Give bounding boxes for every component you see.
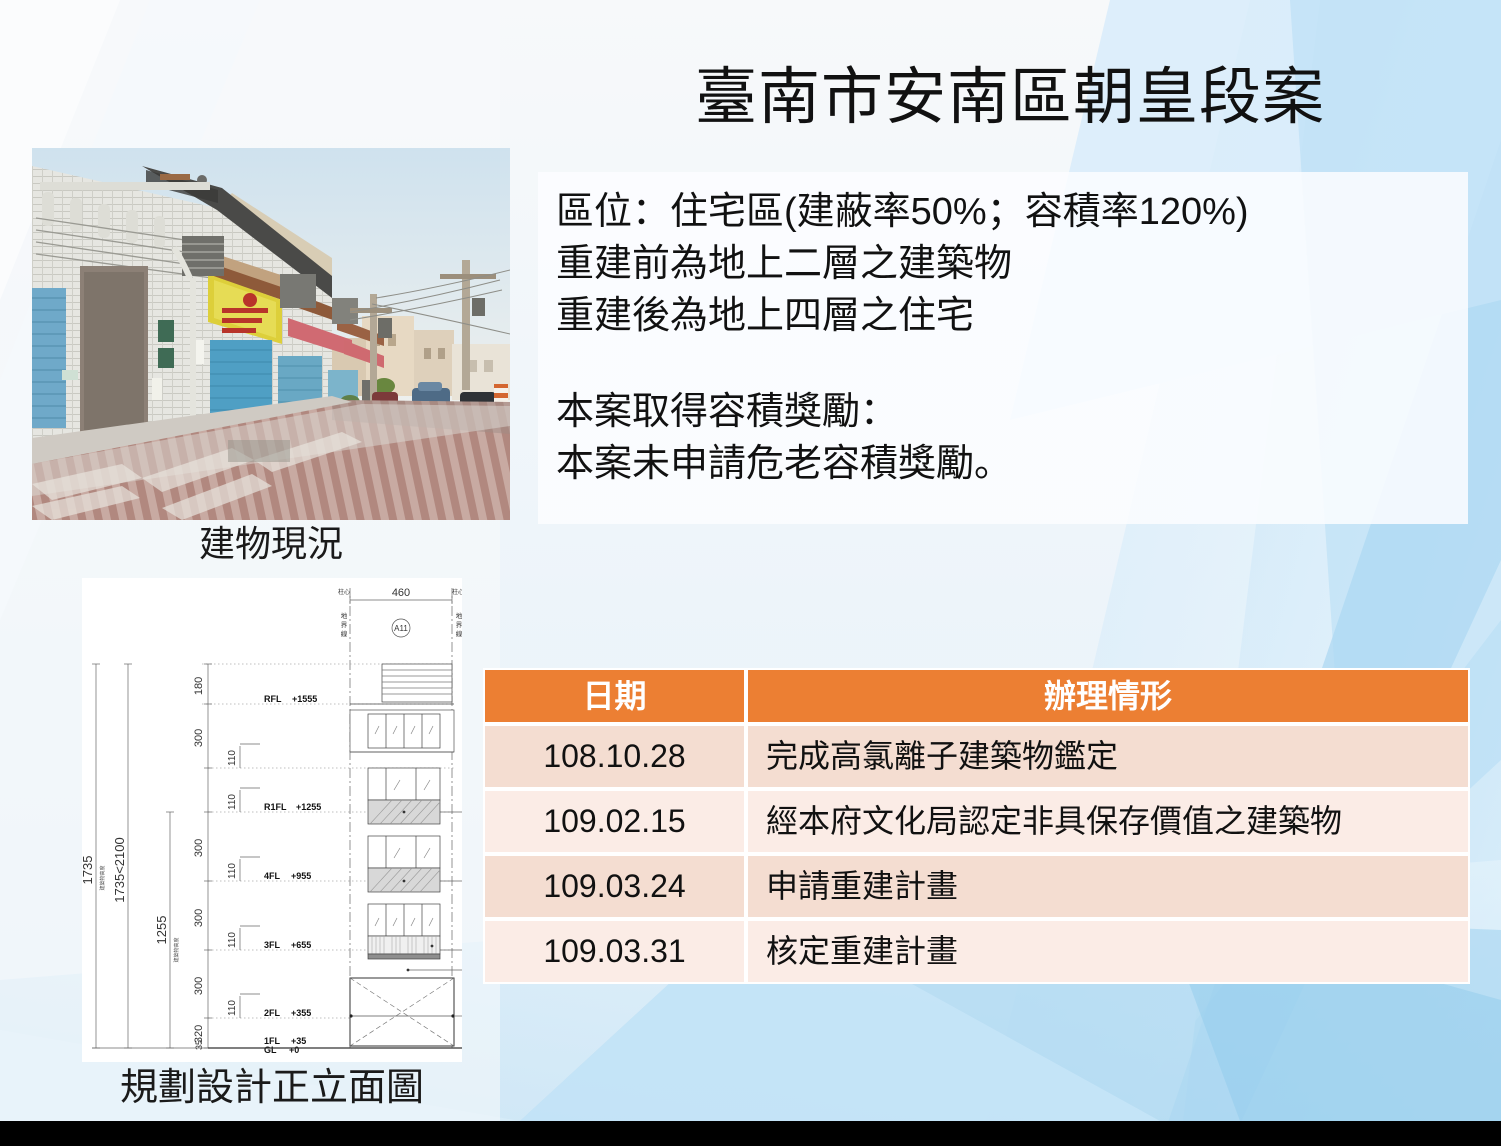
cell-status: 完成高氯離子建築物鑑定	[746, 724, 1470, 789]
svg-text:建築物高度: 建築物高度	[173, 937, 180, 962]
svg-text:180: 180	[193, 677, 205, 695]
table-header-status: 辦理情形	[746, 668, 1470, 724]
svg-text:線: 線	[456, 629, 462, 638]
table-row: 109.03.31 核定重建計畫	[483, 919, 1470, 984]
svg-text:柱心: 柱心	[452, 588, 462, 596]
info-spacer	[556, 342, 1468, 386]
svg-text:RFL: RFL	[264, 694, 282, 704]
streetview-image	[32, 148, 510, 520]
table-row: 109.02.15 經本府文化局認定非具保存價值之建築物	[483, 789, 1470, 854]
info-line-after: 重建後為地上四層之住宅	[556, 290, 1468, 342]
svg-text:+655: +655	[291, 940, 311, 950]
svg-text:300: 300	[193, 909, 205, 927]
svg-text:建築物高度: 建築物高度	[99, 865, 106, 890]
svg-text:1255: 1255	[154, 916, 169, 945]
cell-status: 經本府文化局認定非具保存價值之建築物	[746, 789, 1470, 854]
elevation-drawing: 460 柱心 柱心 地 界 線 地 界 線 A11	[82, 578, 462, 1062]
svg-text:+1555: +1555	[292, 694, 317, 704]
svg-text:地: 地	[341, 611, 348, 620]
svg-text:界: 界	[341, 621, 348, 629]
table-row: 108.10.28 完成高氯離子建築物鑑定	[483, 724, 1470, 789]
svg-text:2FL: 2FL	[264, 1008, 281, 1018]
project-info-panel: 區位：住宅區(建蔽率50%；容積率120%) 重建前為地上二層之建築物 重建後為…	[538, 172, 1468, 524]
svg-text:110: 110	[227, 1000, 238, 1016]
elevation-drawing-svg: 460 柱心 柱心 地 界 線 地 界 線 A11	[82, 578, 462, 1062]
page-title: 臺南市安南區朝皇段案	[560, 56, 1460, 140]
cell-status: 核定重建計畫	[746, 919, 1470, 984]
table-header-date: 日期	[483, 668, 746, 724]
bottom-letterbox-bar	[0, 1121, 1501, 1146]
svg-text:GL: GL	[264, 1045, 277, 1055]
progress-table: 日期 辦理情形 108.10.28 完成高氯離子建築物鑑定 109.02.15 …	[483, 668, 1470, 984]
svg-text:300: 300	[193, 977, 205, 995]
info-line-bonus-heading: 本案取得容積獎勵：	[556, 386, 1468, 438]
svg-text:35: 35	[194, 1040, 204, 1050]
cell-date: 108.10.28	[483, 724, 746, 789]
existing-building-photo	[32, 148, 510, 520]
svg-text:+355: +355	[291, 1008, 311, 1018]
svg-text:線: 線	[341, 629, 348, 638]
svg-text:+1255: +1255	[296, 802, 321, 812]
svg-text:4FL: 4FL	[264, 871, 281, 881]
svg-text:1735<2100: 1735<2100	[112, 837, 127, 902]
svg-text:界: 界	[456, 621, 462, 629]
svg-text:R1FL: R1FL	[264, 802, 287, 812]
table-header-row: 日期 辦理情形	[483, 668, 1470, 724]
cell-date: 109.02.15	[483, 789, 746, 854]
cell-status: 申請重建計畫	[746, 854, 1470, 919]
streetview-illustration	[32, 148, 510, 520]
svg-text:110: 110	[227, 750, 238, 766]
cell-date: 109.03.31	[483, 919, 746, 984]
svg-text:460: 460	[392, 587, 410, 599]
svg-text:+0: +0	[289, 1045, 299, 1055]
svg-text:A11: A11	[394, 624, 408, 633]
slide-root: 臺南市安南區朝皇段案	[0, 0, 1501, 1146]
svg-text:300: 300	[193, 839, 205, 857]
svg-text:3FL: 3FL	[264, 940, 281, 950]
drawing-caption: 規劃設計正立面圖	[42, 1062, 502, 1114]
photo-caption: 建物現況	[32, 520, 510, 568]
svg-text:+955: +955	[291, 871, 311, 881]
svg-text:1735: 1735	[82, 856, 95, 885]
table-row: 109.03.24 申請重建計畫	[483, 854, 1470, 919]
info-line-before: 重建前為地上二層之建築物	[556, 238, 1468, 290]
cell-date: 109.03.24	[483, 854, 746, 919]
svg-text:110: 110	[227, 932, 238, 948]
svg-text:300: 300	[193, 729, 205, 747]
info-line-zoning: 區位：住宅區(建蔽率50%；容積率120%)	[556, 186, 1468, 238]
svg-text:地: 地	[456, 611, 462, 620]
svg-text:110: 110	[227, 794, 238, 810]
svg-text:110: 110	[227, 863, 238, 879]
svg-text:柱心: 柱心	[338, 588, 350, 596]
info-line-bonus-note: 本案未申請危老容積獎勵。	[556, 438, 1468, 490]
